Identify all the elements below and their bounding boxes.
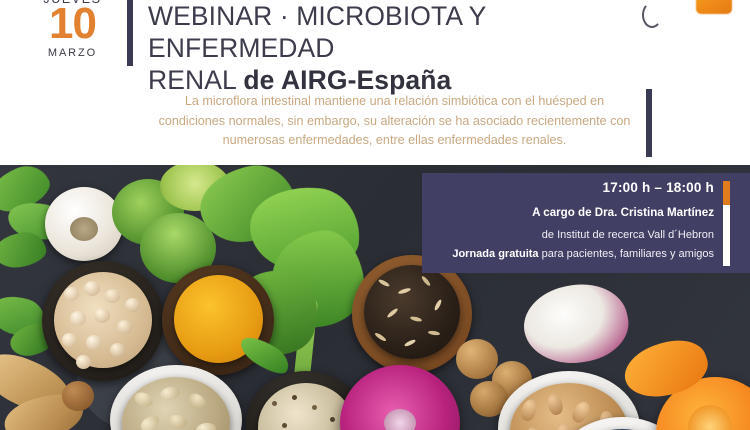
onion-root bbox=[384, 409, 416, 430]
date-month: MARZO bbox=[30, 47, 115, 59]
chickpea bbox=[64, 287, 79, 301]
title-line-2-bold: de AIRG-España bbox=[243, 65, 451, 95]
divider-bar-right bbox=[646, 89, 652, 157]
chickpea bbox=[70, 311, 86, 326]
free-label-rest: para pacientes, familiares y amigos bbox=[539, 248, 714, 260]
chickpea bbox=[86, 335, 102, 350]
chickpea bbox=[100, 358, 114, 371]
event-info-panel: 17:00 h – 18:00 h A cargo de Dra. Cristi… bbox=[422, 173, 750, 273]
garlic-core bbox=[70, 217, 98, 241]
hazelnut bbox=[62, 381, 94, 411]
chickpea bbox=[117, 320, 132, 334]
event-free-notice: Jornada gratuita para pacientes, familia… bbox=[452, 248, 714, 260]
quinoa-grain bbox=[292, 395, 297, 400]
event-organization: de Institut de recerca Vall d´Hebron bbox=[542, 229, 714, 241]
quinoa-grain bbox=[272, 401, 277, 406]
title-line-2-regular: RENAL bbox=[148, 65, 243, 95]
airg-logo-icon bbox=[696, 0, 732, 14]
title-line-1: WEBINAR · MICROBIOTA Y ENFERMEDAD bbox=[148, 0, 678, 64]
poster-root: JUEVES 10 MARZO WEBINAR · MICROBIOTA Y E… bbox=[0, 0, 750, 430]
chickpea bbox=[125, 298, 140, 312]
chickpea bbox=[84, 281, 100, 296]
event-speaker: A cargo de Dra. Cristina Martínez bbox=[532, 206, 714, 219]
page-title: WEBINAR · MICROBIOTA Y ENFERMEDAD RENAL … bbox=[148, 0, 678, 96]
accent-bar-icon bbox=[723, 181, 730, 266]
chickpea bbox=[76, 355, 91, 369]
quinoa-grain bbox=[330, 417, 335, 422]
divider-bar-left bbox=[127, 0, 133, 66]
event-description: La microflora intestinal mantiene una re… bbox=[152, 92, 637, 151]
chickpea bbox=[110, 343, 125, 357]
logo-arc-icon bbox=[642, 2, 662, 28]
food-photograph: 17:00 h – 18:00 h A cargo de Dra. Cristi… bbox=[0, 165, 750, 430]
free-label-bold: Jornada gratuita bbox=[452, 248, 538, 260]
quinoa-grain bbox=[312, 405, 317, 410]
event-date-block: JUEVES 10 MARZO bbox=[30, 0, 115, 59]
walnut bbox=[456, 339, 498, 379]
chickpea bbox=[105, 289, 120, 303]
event-time: 17:00 h – 18:00 h bbox=[603, 180, 714, 195]
poster-header: JUEVES 10 MARZO WEBINAR · MICROBIOTA Y E… bbox=[0, 0, 750, 165]
quinoa-grain bbox=[282, 423, 287, 428]
chickpea bbox=[62, 333, 77, 347]
date-day-number: 10 bbox=[30, 4, 115, 44]
chickpea bbox=[94, 308, 110, 323]
